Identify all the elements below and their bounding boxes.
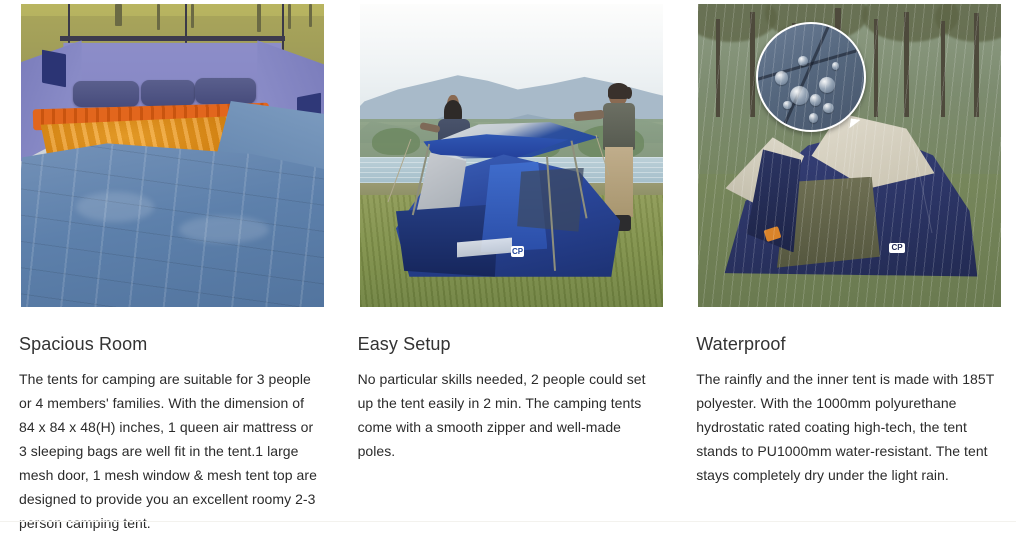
tree-trunk-icon [157, 4, 160, 30]
tree-trunk-icon [750, 12, 755, 117]
feature-title: Spacious Room [19, 333, 318, 355]
feature-description: No particular skills needed, 2 people co… [358, 367, 657, 463]
feature-column-spacious-room: Spacious Room The tents for camping are … [0, 0, 339, 531]
feature-column-waterproof: CP Waterproof The rainfly and the inner … [677, 0, 1016, 531]
feature-title: Waterproof [696, 333, 995, 355]
brand-logo-cp: CP [511, 246, 541, 257]
tree-trunk-icon [309, 4, 312, 27]
feature-image-spacious-room[interactable] [21, 4, 324, 307]
tree-trunk-icon [191, 4, 194, 28]
pillow [141, 80, 196, 106]
brand-logo-cp: CP [889, 243, 915, 257]
bush [372, 128, 420, 155]
tree-trunk-icon [716, 19, 720, 117]
brand-logo-text: CP [511, 246, 524, 257]
section-divider [0, 521, 1016, 522]
feature-description: The rainfly and the inner tent is made w… [696, 367, 995, 487]
feature-columns: Spacious Room The tents for camping are … [0, 0, 1016, 531]
mesh-pocket [42, 50, 66, 88]
tree-trunk-icon [288, 4, 291, 29]
tree-trunk-icon [904, 12, 909, 117]
mesh-window-frame [60, 36, 284, 41]
quilt-highlight [76, 192, 155, 222]
pillow [73, 81, 140, 107]
water-beading-inset [756, 22, 866, 132]
tree-trunk-icon [941, 21, 945, 117]
tree-trunk-icon [115, 4, 122, 26]
feature-description: The tents for camping are suitable for 3… [19, 367, 318, 535]
feature-column-easy-setup: CP Easy Setup No particular skills neede… [339, 0, 678, 531]
blue-quilt [21, 143, 324, 307]
tree-trunk-icon [974, 13, 979, 116]
feature-image-waterproof[interactable]: CP [698, 4, 1001, 307]
feature-title: Easy Setup [358, 333, 657, 355]
tree-trunk-icon [874, 19, 878, 117]
tree-trunk-icon [257, 4, 261, 32]
feature-image-easy-setup[interactable]: CP [360, 4, 663, 307]
pillow [195, 78, 256, 104]
brand-logo-text: CP [889, 243, 905, 253]
